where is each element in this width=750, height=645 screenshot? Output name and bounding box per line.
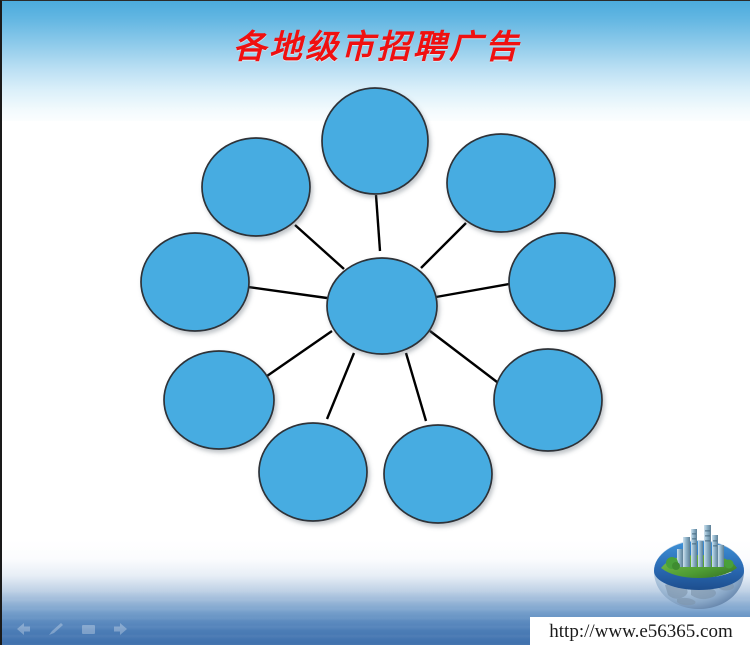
spoke-top-left	[295, 225, 344, 269]
presentation-slide: 各地级市招聘广告	[0, 0, 750, 645]
globe-city-logo	[647, 519, 750, 611]
spoke-bottom-right	[406, 353, 426, 421]
watermark-box: http://www.e56365.com	[530, 617, 750, 645]
node-center-hub[interactable]	[327, 258, 437, 354]
menu-square-icon[interactable]	[81, 622, 96, 636]
radial-diagram	[2, 1, 750, 645]
node-top-right[interactable]	[447, 134, 555, 232]
spoke-left-lower	[267, 331, 332, 376]
node-right-lower[interactable]	[494, 349, 602, 451]
pen-tool-icon[interactable]	[48, 622, 64, 636]
node-bottom-right[interactable]	[384, 425, 492, 523]
node-left-upper[interactable]	[141, 233, 249, 331]
spoke-right-upper	[436, 284, 509, 297]
slideshow-nav-controls[interactable]	[14, 622, 130, 636]
node-left-lower[interactable]	[164, 351, 274, 449]
node-top-left[interactable]	[202, 138, 310, 236]
spoke-bottom-left	[327, 353, 354, 419]
city-skyline	[677, 525, 724, 567]
watermark-url: http://www.e56365.com	[549, 621, 732, 643]
next-slide-arrow-icon[interactable]	[113, 622, 130, 636]
spoke-right-lower	[430, 331, 497, 382]
previous-slide-arrow-icon[interactable]	[14, 622, 31, 636]
spoke-left-upper	[248, 287, 327, 298]
node-right-upper[interactable]	[509, 233, 615, 331]
node-bottom-left[interactable]	[259, 423, 367, 521]
node-top[interactable]	[322, 88, 428, 194]
slide-title: 各地级市招聘广告	[2, 27, 750, 67]
spoke-top	[376, 195, 380, 251]
spoke-top-right	[421, 223, 466, 268]
